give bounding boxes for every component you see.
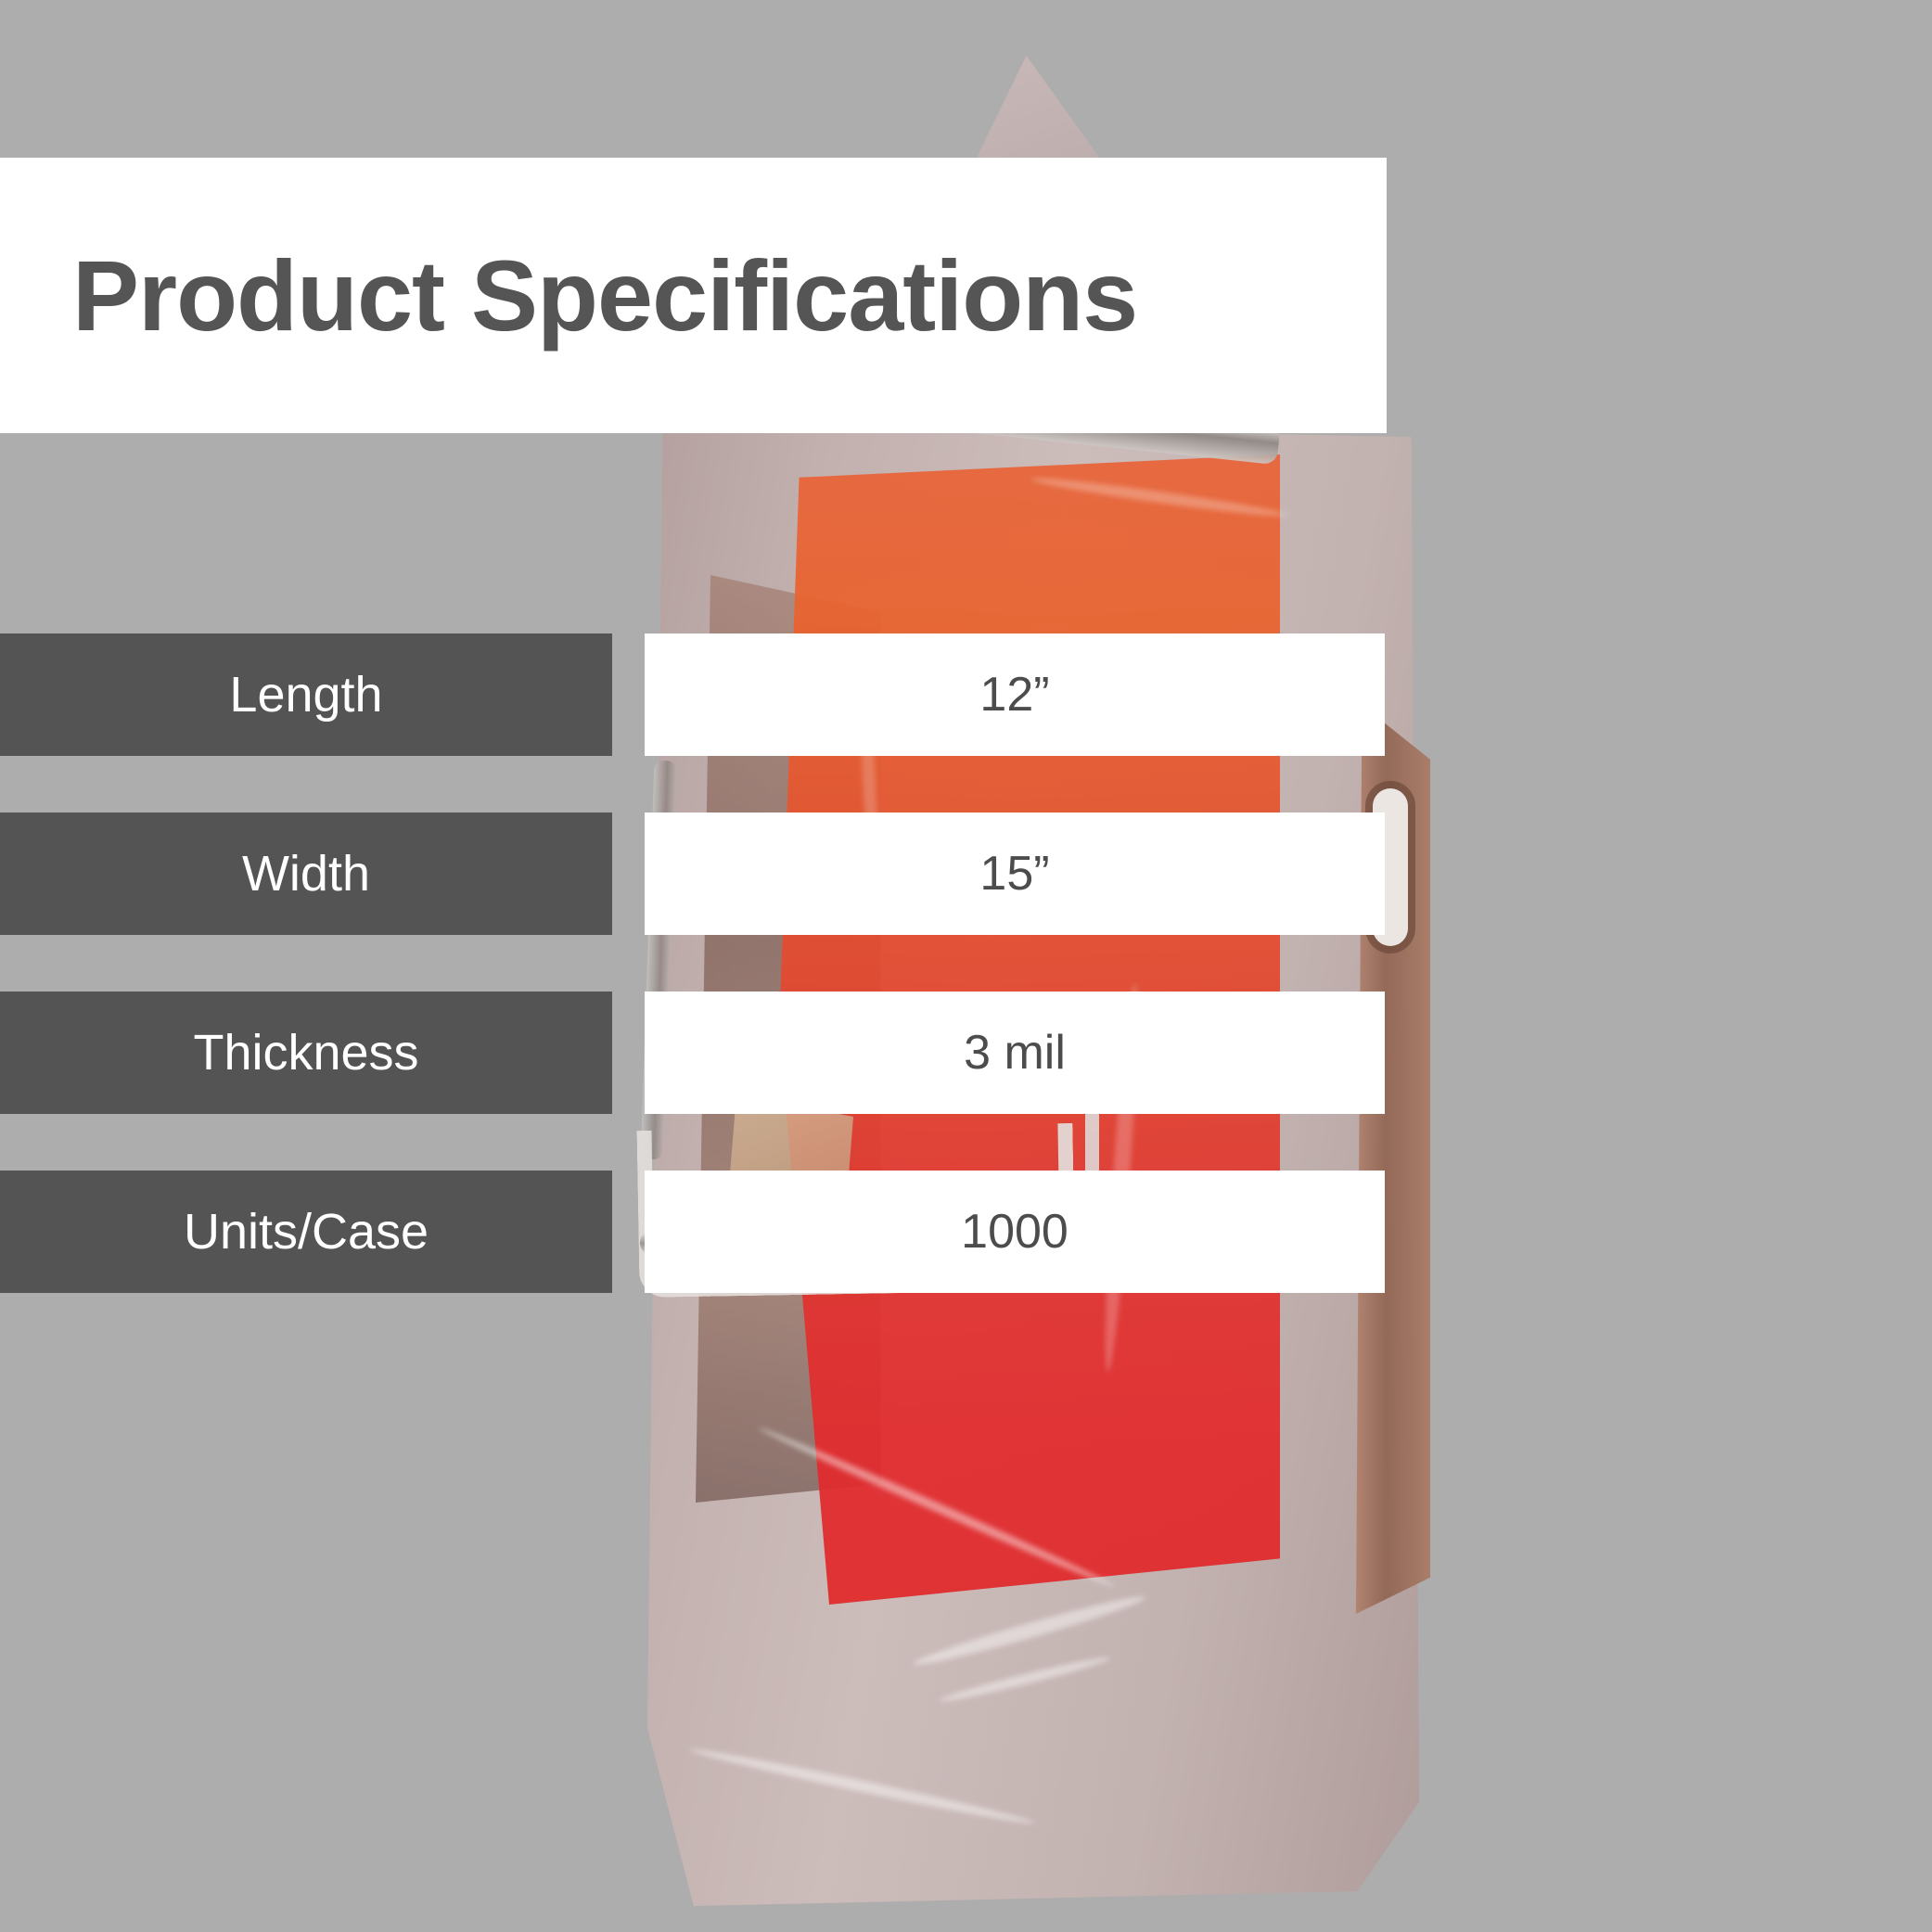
spec-label: Length — [229, 666, 382, 723]
title-banner: Product Specifications — [0, 158, 1387, 433]
spec-label: Thickness — [193, 1024, 418, 1081]
spec-value: 12” — [979, 667, 1049, 723]
spec-label: Units/Case — [184, 1203, 429, 1260]
spec-label-cell-thickness: Thickness — [0, 992, 612, 1114]
spec-value-cell-units-case: 1000 — [645, 1171, 1385, 1293]
spec-value-cell-thickness: 3 mil — [645, 992, 1385, 1114]
spec-label-cell-width: Width — [0, 812, 612, 935]
spec-value: 1000 — [961, 1204, 1068, 1260]
product-spec-card: Product Specifications Length 12” Width … — [0, 0, 1932, 1932]
spec-label: Width — [242, 845, 370, 902]
spec-value-cell-length: 12” — [645, 633, 1385, 756]
spec-label-cell-units-case: Units/Case — [0, 1171, 612, 1293]
spec-label-cell-length: Length — [0, 633, 612, 756]
spec-value: 3 mil — [964, 1025, 1066, 1081]
spec-value: 15” — [979, 846, 1049, 902]
spec-value-cell-width: 15” — [645, 812, 1385, 935]
page-title: Product Specifications — [0, 237, 1137, 353]
